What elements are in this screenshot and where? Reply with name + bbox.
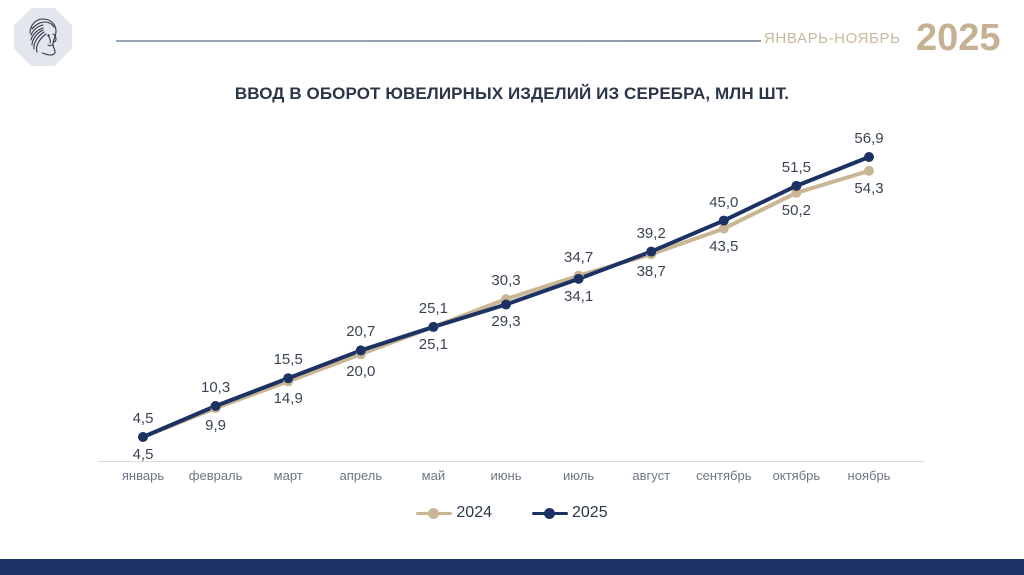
x-axis-tick-апрель: апрель bbox=[339, 468, 382, 483]
x-axis-tick-июнь: июнь bbox=[491, 468, 522, 483]
data-point-marker bbox=[864, 166, 874, 176]
x-axis-tick-январь: январь bbox=[122, 468, 164, 483]
legend-label: 2024 bbox=[456, 504, 492, 522]
value-label: 25,1 bbox=[419, 336, 448, 353]
x-axis-tick-июль: июль bbox=[563, 468, 594, 483]
legend-item-2024[interactable]: 2024 bbox=[416, 504, 492, 522]
value-label: 29,3 bbox=[491, 313, 520, 330]
data-point-marker bbox=[428, 322, 438, 332]
footer-accent-bar bbox=[0, 559, 1024, 575]
legend-marker-icon bbox=[532, 507, 568, 519]
page-header: ЯНВАРЬ-НОЯБРЬ 2025 bbox=[0, 0, 1024, 72]
value-label: 34,7 bbox=[564, 249, 593, 266]
assay-chamber-head-profile-logo-icon bbox=[14, 8, 72, 66]
x-axis-tick-сентябрь: сентябрь bbox=[696, 468, 751, 483]
value-label: 4,5 bbox=[133, 410, 154, 427]
x-axis-tick-август: август bbox=[632, 468, 670, 483]
chart-lines-svg bbox=[0, 115, 1024, 465]
value-label: 56,9 bbox=[854, 130, 883, 147]
x-axis-line bbox=[98, 461, 924, 462]
value-label: 43,5 bbox=[709, 238, 738, 255]
data-point-marker bbox=[719, 216, 729, 226]
value-label: 50,2 bbox=[782, 202, 811, 219]
x-axis-tick-февраль: февраль bbox=[189, 468, 243, 483]
value-label: 45,0 bbox=[709, 194, 738, 211]
legend-marker-icon bbox=[416, 507, 452, 519]
header-period-label: ЯНВАРЬ-НОЯБРЬ bbox=[764, 30, 901, 47]
data-point-marker bbox=[646, 247, 656, 257]
x-axis-tick-март: март bbox=[274, 468, 303, 483]
value-label: 10,3 bbox=[201, 379, 230, 396]
value-label: 15,5 bbox=[274, 351, 303, 368]
data-point-marker bbox=[356, 345, 366, 355]
value-label: 39,2 bbox=[637, 225, 666, 242]
x-axis-tick-labels: январьфевральмартапрельмайиюньиюльавгуст… bbox=[98, 468, 924, 492]
value-label: 54,3 bbox=[854, 180, 883, 197]
value-label: 30,3 bbox=[491, 272, 520, 289]
value-label: 34,1 bbox=[564, 288, 593, 305]
x-axis-tick-ноябрь: ноябрь bbox=[848, 468, 891, 483]
data-point-marker bbox=[574, 274, 584, 284]
value-label: 38,7 bbox=[637, 263, 666, 280]
data-point-marker bbox=[283, 373, 293, 383]
chart-title: ВВОД В ОБОРОТ ЮВЕЛИРНЫХ ИЗДЕЛИЙ ИЗ СЕРЕБ… bbox=[0, 84, 1024, 104]
data-point-marker bbox=[864, 152, 874, 162]
value-label: 51,5 bbox=[782, 159, 811, 176]
value-label: 20,7 bbox=[346, 323, 375, 340]
chart-legend: 20242025 bbox=[0, 500, 1024, 526]
legend-label: 2025 bbox=[572, 504, 608, 522]
legend-item-2025[interactable]: 2025 bbox=[532, 504, 608, 522]
value-label: 25,1 bbox=[419, 300, 448, 317]
data-point-marker bbox=[501, 299, 511, 309]
x-axis-tick-май: май bbox=[422, 468, 445, 483]
header-year-label: 2025 bbox=[916, 17, 1001, 59]
data-point-marker bbox=[138, 432, 148, 442]
value-label: 14,9 bbox=[274, 390, 303, 407]
header-divider-rule bbox=[116, 40, 761, 42]
data-point-marker bbox=[791, 181, 801, 191]
chart-plot-area: 4,54,510,39,915,514,920,720,025,125,130,… bbox=[0, 115, 1024, 465]
value-label: 9,9 bbox=[205, 417, 226, 434]
data-point-marker bbox=[211, 401, 221, 411]
x-axis-tick-октябрь: октябрь bbox=[773, 468, 821, 483]
value-label: 20,0 bbox=[346, 363, 375, 380]
